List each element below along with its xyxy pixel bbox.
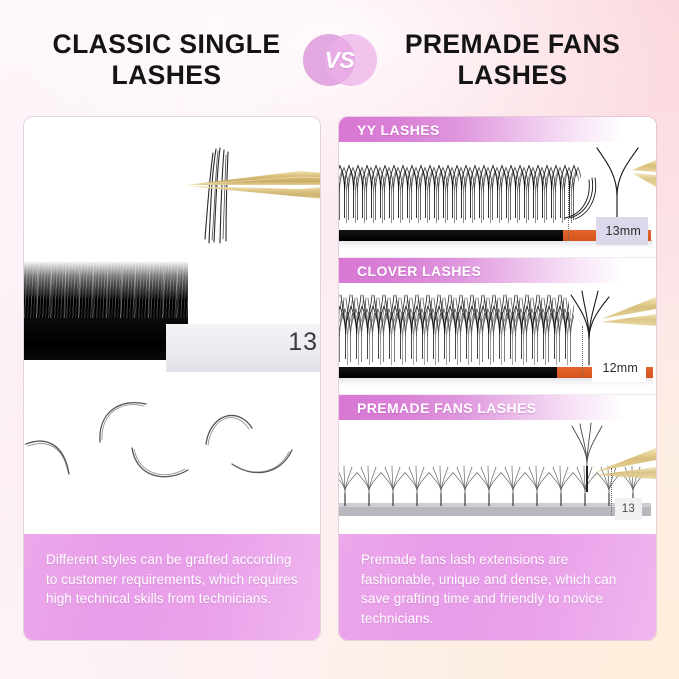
lash-tray-bar <box>339 367 557 378</box>
premade-fans-illustration <box>339 420 656 534</box>
vs-venn-badge: VS <box>303 31 377 89</box>
page-title-left: CLASSIC SINGLE LASHES <box>35 29 303 92</box>
lash-length-tag: 12mm <box>592 354 646 382</box>
section-label: CLOVER LASHES <box>339 263 481 279</box>
page-title-right: PREMADE FANS LASHES <box>377 29 645 92</box>
lash-length-tag: 13mm <box>596 217 648 245</box>
dimension-line <box>568 179 569 241</box>
lash-length-tag: 13 <box>615 498 642 520</box>
lash-tray-bar <box>339 230 563 241</box>
classic-single-lashes-card: 13 <box>24 117 320 640</box>
header: CLASSIC SINGLE LASHES VS PREMADE FANS LA… <box>0 18 679 102</box>
lash-tray: 13 <box>166 324 320 372</box>
left-panel-caption: Different styles can be grafted accordin… <box>24 534 320 640</box>
dimension-line <box>611 468 612 516</box>
lash-type-section: YY LASHES <box>339 117 656 257</box>
right-panel-caption: Premade fans lash extensions are fashion… <box>339 534 656 640</box>
vs-label: VS <box>325 47 355 74</box>
curved-lash-strokes <box>24 382 320 534</box>
section-label: YY LASHES <box>339 122 440 138</box>
lash-strip-base <box>24 318 188 360</box>
section-banner: PREMADE FANS LASHES <box>339 395 656 420</box>
section-banner: YY LASHES <box>339 117 656 142</box>
lash-type-sections: YY LASHES <box>339 117 656 534</box>
section-banner: CLOVER LASHES <box>339 258 656 283</box>
tweezers-icon <box>184 165 320 205</box>
lash-length-number: 13 <box>288 328 318 357</box>
classic-lashes-photo: 13 <box>24 117 320 382</box>
section-image: 13 <box>339 420 656 534</box>
curved-single-lashes-illustration <box>24 382 320 534</box>
dimension-line <box>582 326 583 378</box>
lash-type-section: PREMADE FANS LASHES <box>339 394 656 534</box>
section-image: 12mm <box>339 283 656 394</box>
section-label: PREMADE FANS LASHES <box>339 400 537 416</box>
section-image: 13mm <box>339 142 656 257</box>
premade-fans-lashes-card: YY LASHES <box>339 117 656 640</box>
lash-type-section: CLOVER LASHES <box>339 257 656 394</box>
classic-single-lash-strip <box>24 260 188 360</box>
